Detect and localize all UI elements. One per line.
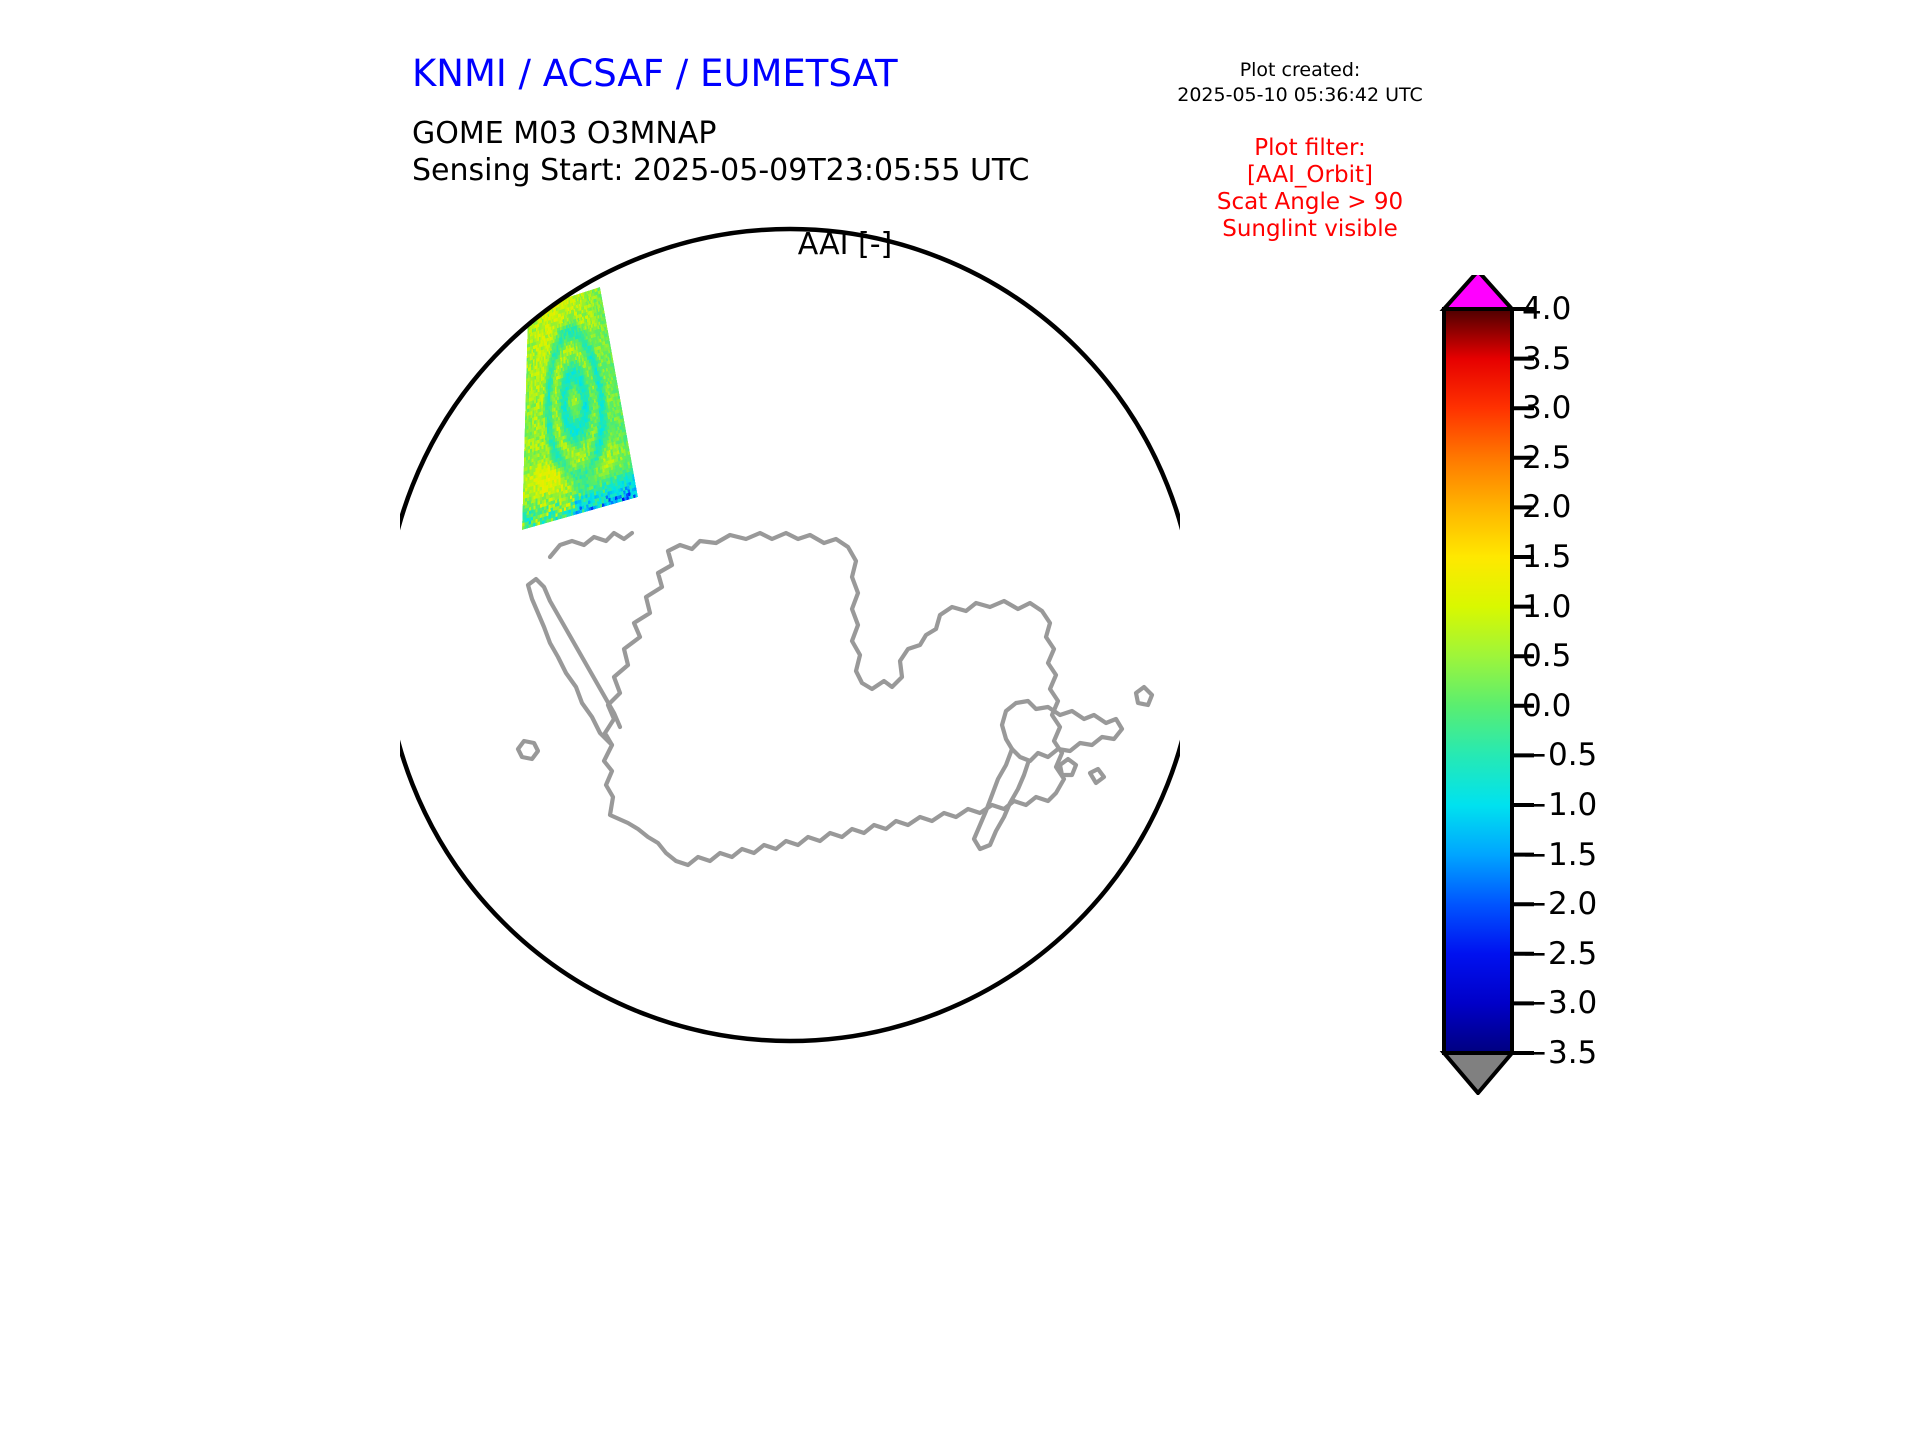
swath-cell bbox=[566, 459, 568, 463]
swath-cell bbox=[548, 389, 550, 393]
swath-cell bbox=[543, 401, 545, 405]
swath-cell bbox=[529, 340, 531, 344]
swath-cell bbox=[567, 438, 569, 442]
swath-cell bbox=[577, 373, 579, 377]
polar-map bbox=[400, 225, 1180, 1065]
swath-cell bbox=[568, 458, 570, 462]
swath-cell bbox=[577, 497, 579, 501]
swath-cell bbox=[573, 470, 575, 474]
swath-cell bbox=[524, 437, 526, 441]
swath-cell bbox=[608, 498, 611, 502]
swath-cell bbox=[550, 395, 552, 399]
swath-cell bbox=[526, 368, 528, 372]
swath-cell bbox=[585, 440, 587, 444]
swath-cell bbox=[543, 404, 545, 408]
swath-cell bbox=[587, 401, 589, 405]
swath-cell bbox=[529, 476, 531, 480]
swath-cell bbox=[536, 468, 538, 472]
swath-cell bbox=[529, 309, 531, 313]
swath-cell bbox=[541, 357, 543, 361]
swath-cell bbox=[560, 430, 562, 434]
swath-cell bbox=[543, 377, 545, 381]
colorbar-tick-label: −1.5 bbox=[1522, 837, 1597, 873]
swath-cell bbox=[565, 373, 567, 377]
swath-cell bbox=[532, 462, 534, 466]
swath-cell bbox=[558, 423, 560, 427]
swath-cell bbox=[592, 472, 595, 476]
swath-cell bbox=[572, 430, 574, 434]
swath-cell bbox=[553, 333, 555, 337]
swath-cell bbox=[525, 426, 527, 430]
colorbar-tick-label: −3.5 bbox=[1522, 1035, 1597, 1071]
swath-cell bbox=[589, 445, 591, 449]
swath-cell bbox=[534, 448, 536, 452]
swath-cell bbox=[557, 362, 559, 366]
swath-cell bbox=[559, 310, 561, 314]
swath-cell bbox=[562, 367, 564, 371]
swath-cell bbox=[578, 332, 580, 336]
swath-cell bbox=[535, 328, 537, 332]
swath-cell bbox=[556, 462, 558, 466]
product-title: GOME M03 O3MNAP bbox=[412, 115, 1029, 152]
swath-cell bbox=[535, 348, 537, 352]
swath-cell bbox=[598, 453, 600, 457]
swath-cell bbox=[533, 328, 535, 332]
swath-cell bbox=[545, 424, 547, 428]
swath-cell bbox=[548, 488, 550, 492]
swath-cell bbox=[527, 337, 529, 341]
swath-cell bbox=[570, 502, 572, 506]
swath-cell bbox=[532, 441, 534, 445]
swath-cell bbox=[580, 437, 582, 441]
swath-cell bbox=[575, 480, 577, 484]
swath-cell bbox=[585, 426, 587, 430]
swath-cell bbox=[538, 491, 540, 495]
swath-cell bbox=[576, 493, 579, 497]
swath-cell bbox=[587, 422, 589, 426]
swath-cell bbox=[540, 439, 542, 443]
swath-cell bbox=[578, 393, 580, 397]
swath-cell bbox=[536, 338, 538, 342]
swath-cell bbox=[560, 416, 562, 420]
swath-cell bbox=[556, 421, 558, 425]
swath-cell bbox=[538, 498, 540, 502]
swath-cell bbox=[562, 306, 564, 310]
swath-cell bbox=[523, 505, 525, 509]
swath-cell bbox=[571, 474, 573, 478]
swath-cell bbox=[551, 518, 553, 522]
swath-cell bbox=[555, 513, 557, 517]
swath-cell bbox=[562, 381, 564, 385]
swath-cell bbox=[557, 400, 559, 404]
swath-cell bbox=[597, 443, 599, 447]
swath-cell bbox=[559, 505, 561, 509]
swath-cell bbox=[595, 461, 597, 465]
swath-cell bbox=[533, 342, 535, 346]
swath-cell bbox=[541, 428, 543, 432]
swath-cell bbox=[594, 488, 597, 492]
swath-cell bbox=[530, 432, 532, 436]
swath-cell bbox=[568, 393, 570, 397]
swath-cell bbox=[559, 331, 561, 335]
swath-cell bbox=[585, 467, 587, 471]
swath-cell bbox=[563, 371, 565, 375]
swath-cell bbox=[571, 313, 573, 317]
swath-cell bbox=[556, 373, 558, 377]
swath-cell bbox=[573, 350, 575, 354]
swath-cell bbox=[557, 431, 559, 435]
swath-cell bbox=[554, 319, 556, 323]
swath-cell bbox=[525, 402, 527, 406]
swath-cell bbox=[538, 433, 540, 437]
swath-cell bbox=[559, 409, 561, 413]
swath-cell bbox=[567, 318, 569, 322]
swath-cell bbox=[542, 319, 544, 323]
swath-cell bbox=[558, 461, 560, 465]
swath-cell bbox=[576, 428, 578, 432]
swath-cell bbox=[589, 462, 591, 466]
sensing-start: Sensing Start: 2025-05-09T23:05:55 UTC bbox=[412, 152, 1029, 189]
swath-cell bbox=[592, 492, 595, 496]
swath-cell bbox=[524, 440, 526, 444]
swath-cell bbox=[561, 484, 563, 488]
swath-cell bbox=[543, 431, 545, 435]
swath-cell bbox=[564, 363, 566, 367]
swath-cell bbox=[572, 433, 574, 437]
swath-cell bbox=[580, 407, 582, 411]
swath-cell bbox=[544, 509, 546, 513]
swath-cell bbox=[547, 358, 549, 362]
swath-cell bbox=[573, 313, 575, 317]
swath-cell bbox=[556, 479, 558, 483]
swath-cell bbox=[557, 441, 559, 445]
swath-cell bbox=[528, 460, 530, 464]
swath-cell bbox=[530, 421, 532, 425]
swath-cell bbox=[573, 501, 575, 505]
swath-cell bbox=[601, 493, 604, 497]
swath-cell bbox=[536, 454, 538, 458]
swath-cell bbox=[538, 365, 540, 369]
swath-cell bbox=[558, 389, 560, 393]
swath-cell bbox=[533, 509, 535, 513]
swath-cell bbox=[532, 400, 534, 404]
swath-cell bbox=[588, 452, 590, 456]
swath-cell bbox=[602, 469, 605, 473]
swath-cell bbox=[575, 377, 577, 381]
swath-cell bbox=[615, 496, 618, 500]
swath-cell bbox=[561, 402, 563, 406]
swath-cell bbox=[547, 324, 549, 328]
swath-cell bbox=[538, 436, 540, 440]
swath-cell bbox=[552, 405, 554, 409]
swath-cell bbox=[551, 323, 553, 327]
swath-cell bbox=[535, 509, 537, 513]
swath-cell bbox=[532, 339, 534, 343]
swath-cell bbox=[574, 429, 576, 433]
swath-cell bbox=[600, 452, 603, 456]
swath-cell bbox=[527, 409, 529, 413]
swath-cell bbox=[562, 508, 564, 512]
swath-cell bbox=[559, 337, 561, 341]
swath-cell bbox=[538, 423, 540, 427]
swath-cell bbox=[565, 332, 567, 336]
swath-cell bbox=[543, 438, 545, 442]
swath-cell bbox=[591, 421, 593, 425]
swath-cell bbox=[593, 502, 596, 506]
swath-cell bbox=[550, 405, 552, 409]
swath-cell bbox=[564, 333, 566, 337]
swath-cell bbox=[536, 409, 538, 413]
swath-cell bbox=[565, 483, 567, 487]
swath-cell bbox=[568, 379, 570, 383]
swath-cell bbox=[576, 408, 578, 412]
swath-cell bbox=[529, 521, 531, 525]
swath-cell bbox=[524, 525, 526, 529]
swath-cell bbox=[562, 432, 564, 436]
swath-cell bbox=[564, 319, 566, 323]
swath-cell bbox=[548, 474, 550, 478]
plot-created-timestamp: 2025-05-10 05:36:42 UTC bbox=[1160, 83, 1440, 108]
swath-cell bbox=[553, 349, 555, 353]
swath-cell bbox=[554, 377, 556, 381]
swath-cell bbox=[553, 384, 555, 388]
swath-cell bbox=[525, 515, 527, 519]
swath-cell bbox=[540, 463, 542, 467]
swath-cell bbox=[561, 450, 563, 454]
swath-cell bbox=[554, 421, 556, 425]
swath-cell bbox=[529, 384, 531, 388]
colorbar-tick-label: 3.5 bbox=[1522, 341, 1571, 377]
swath-cell bbox=[565, 349, 567, 353]
swath-cell bbox=[604, 451, 606, 455]
swath-cell bbox=[555, 503, 557, 507]
swath-cell bbox=[584, 433, 586, 437]
swath-cell bbox=[562, 415, 564, 419]
swath-cell bbox=[534, 410, 536, 414]
swath-cell bbox=[553, 445, 555, 449]
swath-cell bbox=[571, 478, 573, 482]
swath-cell bbox=[539, 364, 541, 368]
swath-cell bbox=[567, 380, 569, 384]
swath-cell bbox=[544, 329, 546, 333]
swath-cell bbox=[551, 429, 553, 433]
swath-cell bbox=[570, 461, 572, 465]
swath-cell bbox=[561, 453, 563, 457]
swath-cell bbox=[579, 496, 581, 500]
swath-cell bbox=[592, 437, 594, 441]
swath-cell bbox=[533, 356, 535, 360]
swath-cell bbox=[583, 420, 585, 424]
swath-cell bbox=[549, 317, 551, 321]
swath-cell bbox=[564, 322, 566, 326]
swath-cell bbox=[525, 494, 527, 498]
swath-cell bbox=[545, 335, 547, 339]
swath-cell bbox=[539, 378, 541, 382]
swath-cell bbox=[546, 369, 548, 373]
swath-cell bbox=[599, 456, 601, 460]
swath-cell bbox=[530, 360, 532, 364]
swath-cell bbox=[574, 381, 576, 385]
swath-cell bbox=[551, 361, 553, 365]
swath-cell bbox=[562, 422, 564, 426]
swath-cell bbox=[532, 312, 534, 316]
swath-cell bbox=[549, 446, 551, 450]
swath-cell bbox=[589, 425, 591, 429]
swath-cell bbox=[529, 326, 531, 330]
swath-cell bbox=[557, 386, 559, 390]
swath-cell bbox=[558, 369, 560, 373]
swath-cell bbox=[600, 490, 603, 494]
swath-cell bbox=[580, 427, 582, 431]
swath-cell bbox=[530, 425, 532, 429]
swath-cell bbox=[590, 479, 593, 483]
swath-cell bbox=[569, 310, 571, 314]
swath-cell bbox=[539, 374, 541, 378]
swath-cell bbox=[579, 493, 581, 497]
swath-cell bbox=[596, 467, 599, 471]
swath-cell bbox=[592, 496, 595, 500]
swath-cell bbox=[599, 477, 602, 481]
swath-cell bbox=[540, 425, 542, 429]
swath-cell bbox=[549, 348, 551, 352]
swath-cell bbox=[566, 510, 568, 514]
swath-cell bbox=[544, 373, 546, 377]
swath-cell bbox=[583, 423, 585, 427]
swath-cell bbox=[544, 346, 546, 350]
swath-cell bbox=[526, 436, 528, 440]
swath-cell bbox=[559, 406, 561, 410]
swath-cell bbox=[559, 485, 561, 489]
swath-cell bbox=[536, 341, 538, 345]
swath-cell bbox=[528, 425, 530, 429]
swath-cell bbox=[584, 481, 586, 485]
swath-cell bbox=[548, 331, 550, 335]
swath-cell bbox=[541, 381, 543, 385]
swath-cell bbox=[538, 515, 540, 519]
swath-cell bbox=[549, 436, 551, 440]
swath-cell bbox=[545, 331, 547, 335]
swath-cell bbox=[567, 362, 569, 366]
swath-cell bbox=[527, 504, 529, 508]
swath-cell bbox=[538, 347, 540, 351]
swath-cell bbox=[538, 470, 540, 474]
swath-cell bbox=[567, 338, 569, 342]
swath-cell bbox=[558, 413, 560, 417]
swath-cell bbox=[539, 330, 541, 334]
swath-cell bbox=[534, 478, 536, 482]
swath-cell bbox=[540, 470, 542, 474]
swath-cell bbox=[546, 382, 548, 386]
swath-cell bbox=[588, 401, 590, 405]
swath-cell bbox=[542, 305, 544, 309]
swath-cell bbox=[530, 343, 532, 347]
swath-cell bbox=[539, 333, 541, 337]
swath-cell bbox=[598, 467, 601, 471]
swath-cell bbox=[552, 480, 554, 484]
swath-cell bbox=[569, 485, 571, 489]
swath-cell bbox=[601, 394, 603, 398]
swath-cell bbox=[536, 375, 538, 379]
swath-cell bbox=[524, 522, 526, 526]
swath-cell bbox=[606, 464, 609, 468]
swath-cell bbox=[544, 366, 546, 370]
swath-cell bbox=[576, 387, 578, 391]
swath-cell bbox=[582, 478, 584, 482]
swath-cell bbox=[554, 329, 556, 333]
swath-cell bbox=[555, 349, 557, 353]
swath-cell bbox=[533, 523, 535, 527]
swath-cell bbox=[531, 312, 533, 316]
swath-cell bbox=[576, 404, 578, 408]
swath-cell bbox=[555, 325, 557, 329]
swath-cell bbox=[569, 393, 571, 397]
swath-cell bbox=[579, 342, 581, 346]
swath-cell bbox=[574, 384, 576, 388]
swath-cell bbox=[597, 457, 599, 461]
swath-cell bbox=[592, 475, 594, 479]
swath-cell bbox=[540, 419, 542, 423]
swath-cell bbox=[575, 360, 577, 364]
swath-cell bbox=[566, 370, 568, 374]
swath-cell bbox=[588, 504, 591, 508]
swath-cell bbox=[573, 446, 575, 450]
swath-cell bbox=[558, 348, 560, 352]
swath-cell bbox=[553, 428, 555, 432]
swath-cell bbox=[587, 439, 589, 443]
swath-cell bbox=[551, 443, 553, 447]
swath-cell bbox=[528, 310, 530, 314]
swath-cell bbox=[566, 428, 568, 432]
swath-cell bbox=[526, 467, 528, 471]
swath-cell bbox=[536, 379, 538, 383]
swath-cell bbox=[529, 398, 531, 402]
swath-cell bbox=[561, 323, 563, 327]
swath-cell bbox=[566, 466, 568, 470]
swath-cell bbox=[559, 392, 561, 396]
swath-cell bbox=[530, 367, 532, 371]
swath-cell bbox=[533, 325, 535, 329]
swath-cell bbox=[579, 445, 581, 449]
swath-cell bbox=[608, 464, 611, 468]
swath-cell bbox=[566, 349, 568, 353]
swath-cell bbox=[546, 396, 548, 400]
swath-cell bbox=[584, 502, 587, 506]
swath-cell bbox=[563, 377, 565, 381]
swath-cell bbox=[555, 339, 557, 343]
swath-cell bbox=[544, 462, 546, 466]
swath-cell bbox=[566, 346, 568, 350]
swath-cell bbox=[555, 517, 557, 521]
swath-cell bbox=[550, 470, 552, 474]
swath-cell bbox=[533, 369, 535, 373]
swath-cell bbox=[544, 479, 546, 483]
swath-cell bbox=[554, 401, 556, 405]
swath-cell bbox=[541, 398, 543, 402]
swath-cell bbox=[571, 330, 573, 334]
swath-cell bbox=[572, 378, 574, 382]
swath-cell bbox=[564, 463, 566, 467]
swath-cell bbox=[569, 327, 571, 331]
swath-cell bbox=[561, 440, 563, 444]
swath-cell bbox=[594, 454, 596, 458]
swath-cell bbox=[563, 319, 565, 323]
swath-cell bbox=[545, 342, 547, 346]
swath-cell bbox=[531, 517, 533, 521]
swath-cell bbox=[555, 452, 557, 456]
swath-cell bbox=[558, 314, 560, 318]
swath-cell bbox=[544, 332, 546, 336]
swath-cell bbox=[555, 352, 557, 356]
